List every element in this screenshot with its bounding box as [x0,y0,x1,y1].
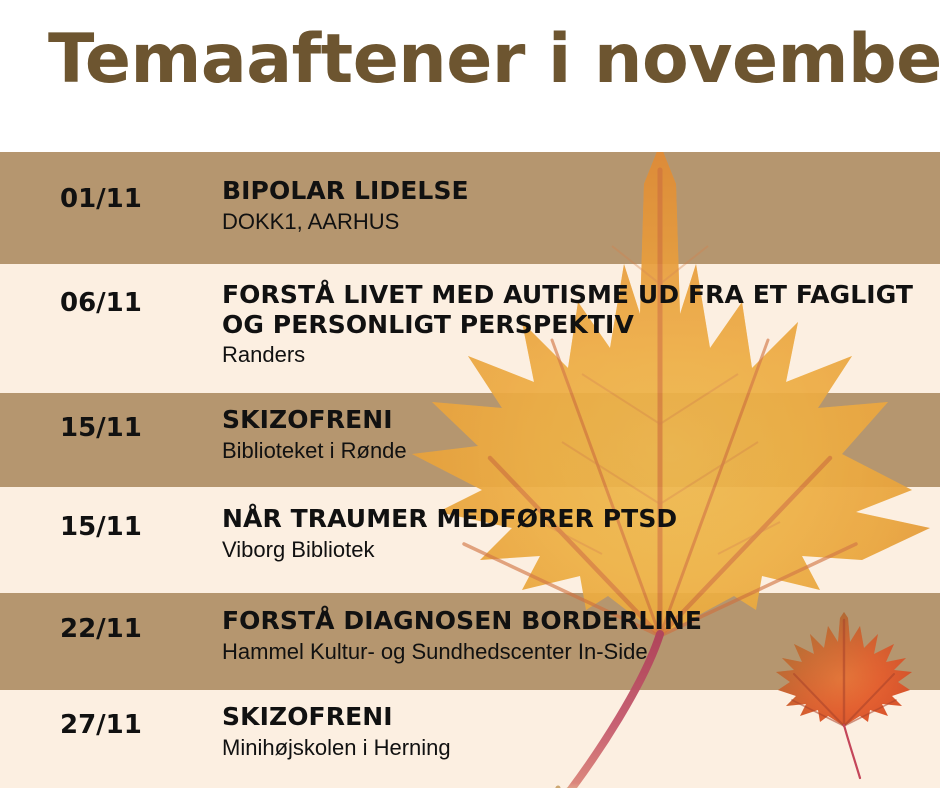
event-body: FORSTÅ LIVET MED AUTISME UD FRA ET FAGLI… [222,280,922,368]
event-venue: DOKK1, AARHUS [222,209,922,235]
event-venue: Randers [222,342,922,368]
event-row[interactable]: 06/11FORSTÅ LIVET MED AUTISME UD FRA ET … [0,264,940,393]
event-body: SKIZOFRENIBiblioteket i Rønde [222,405,922,464]
event-venue: Biblioteket i Rønde [222,438,922,464]
event-date: 06/11 [60,288,210,318]
event-row[interactable]: 22/11FORSTÅ DIAGNOSEN BORDERLINEHammel K… [0,593,940,690]
event-title: FORSTÅ DIAGNOSEN BORDERLINE [222,606,922,636]
event-venue: Minihøjskolen i Herning [222,735,922,761]
event-title: BIPOLAR LIDELSE [222,176,922,206]
event-title: SKIZOFRENI [222,405,922,435]
event-date: 15/11 [60,512,210,542]
poster-header: Temaaftener i november [0,0,940,152]
event-venue: Viborg Bibliotek [222,537,922,563]
event-row[interactable]: 15/11NÅR TRAUMER MEDFØRER PTSDViborg Bib… [0,487,940,593]
event-row[interactable]: 01/11BIPOLAR LIDELSEDOKK1, AARHUS [0,152,940,264]
event-venue: Hammel Kultur- og Sundhedscenter In-Side [222,639,922,665]
event-date: 01/11 [60,184,210,214]
event-date: 22/11 [60,614,210,644]
page-title: Temaaftener i november [48,26,940,94]
event-body: BIPOLAR LIDELSEDOKK1, AARHUS [222,176,922,235]
event-date: 15/11 [60,413,210,443]
event-title: SKIZOFRENI [222,702,922,732]
event-title: NÅR TRAUMER MEDFØRER PTSD [222,504,922,534]
event-row[interactable]: 15/11SKIZOFRENIBiblioteket i Rønde [0,393,940,487]
event-title: FORSTÅ LIVET MED AUTISME UD FRA ET FAGLI… [222,280,922,339]
poster-canvas: Temaaftener i november 01/11BIPOLAR LIDE… [0,0,940,788]
event-body: FORSTÅ DIAGNOSEN BORDERLINEHammel Kultur… [222,606,922,665]
event-date: 27/11 [60,710,210,740]
event-body: NÅR TRAUMER MEDFØRER PTSDViborg Bibliote… [222,504,922,563]
event-body: SKIZOFRENIMinihøjskolen i Herning [222,702,922,761]
event-row[interactable]: 27/11SKIZOFRENIMinihøjskolen i Herning [0,690,940,788]
